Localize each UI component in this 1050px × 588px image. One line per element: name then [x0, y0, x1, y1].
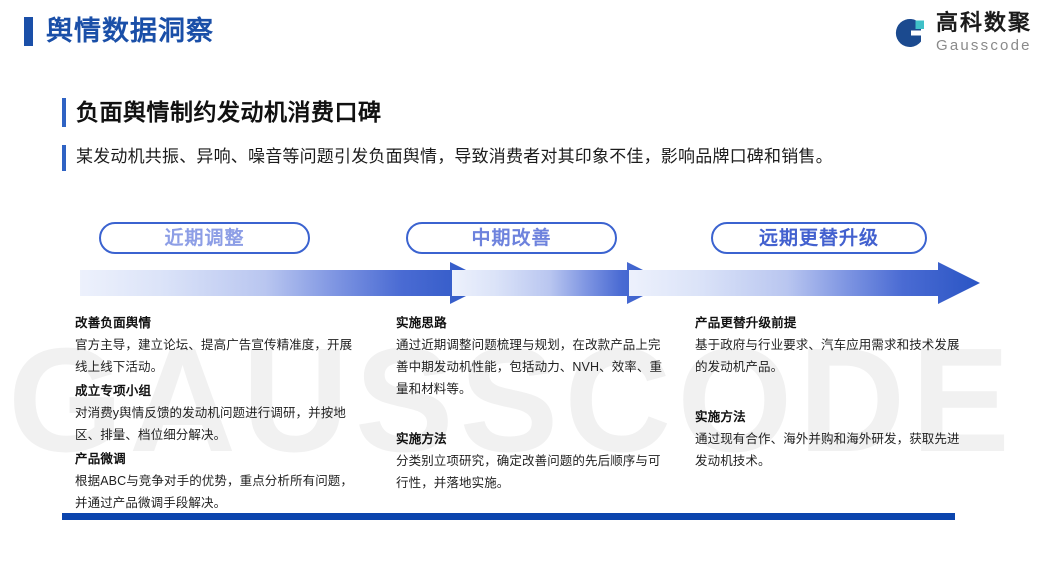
footer-rule	[62, 513, 955, 520]
detail-section-body: 官方主导，建立论坛、提高广告宣传精准度，开展线上线下活动。	[75, 334, 360, 378]
phase-column-long-term: 产品更替升级前提 基于政府与行业要求、汽车应用需求和技术发展的发动机产品。 实施…	[695, 312, 967, 474]
detail-section: 成立专项小组 对消费y舆情反馈的发动机问题进行调研，并按地区、排量、档位细分解决…	[75, 380, 360, 446]
logo-name-cn: 高科数聚	[936, 12, 1032, 34]
detail-section: 实施方法 分类别立项研究，确定改善问题的先后顺序与可行性，并落地实施。	[396, 428, 666, 494]
detail-section: 实施思路 通过近期调整问题梳理与规划，在改款产品上完善中期发动机性能，包括动力、…	[396, 312, 666, 400]
subheadline-accent-bar	[62, 145, 66, 171]
detail-section: 产品微调 根据ABC与竞争对手的优势，重点分析所有问题，并通过产品微调手段解决。	[75, 448, 360, 514]
headline-block: 负面舆情制约发动机消费口碑 某发动机共振、异响、噪音等问题引发负面舆情，导致消费…	[62, 96, 962, 170]
phase-pill-near-term[interactable]: 近期调整	[99, 222, 310, 254]
detail-section-title: 产品微调	[75, 448, 360, 470]
detail-section-body: 通过近期调整问题梳理与规划，在改款产品上完善中期发动机性能，包括动力、NVH、效…	[396, 334, 666, 400]
phase-column-near-term: 改善负面舆情 官方主导，建立论坛、提高广告宣传精准度，开展线上线下活动。 成立专…	[75, 312, 360, 516]
slide-header: 舆情数据洞察 高科数聚 Gausscode	[0, 0, 1050, 72]
detail-section: 改善负面舆情 官方主导，建立论坛、提高广告宣传精准度，开展线上线下活动。	[75, 312, 360, 378]
header-title-group: 舆情数据洞察	[24, 17, 214, 46]
brand-logo: 高科数聚 Gausscode	[891, 12, 1032, 53]
detail-section-body: 根据ABC与竞争对手的优势，重点分析所有问题，并通过产品微调手段解决。	[75, 470, 360, 514]
logo-name-en: Gausscode	[936, 38, 1032, 53]
phase-column-mid-term: 实施思路 通过近期调整问题梳理与规划，在改款产品上完善中期发动机性能，包括动力、…	[396, 312, 666, 496]
detail-section: 实施方法 通过现有合作、海外并购和海外研发，获取先进发动机技术。	[695, 406, 967, 472]
phase-pill-label: 远期更替升级	[759, 229, 879, 248]
detail-section-body: 分类别立项研究，确定改善问题的先后顺序与可行性，并落地实施。	[396, 450, 666, 494]
subheadline-row: 某发动机共振、异响、噪音等问题引发负面舆情，导致消费者对其印象不佳，影响品牌口碑…	[62, 144, 962, 170]
detail-section-title: 实施方法	[695, 406, 967, 428]
slide-canvas: GAUSSCODE 舆情数据洞察 高科数聚 Gausscode 负面舆情制约发动…	[0, 0, 1050, 588]
phase-pill-label: 中期改善	[471, 229, 551, 248]
detail-section: 产品更替升级前提 基于政府与行业要求、汽车应用需求和技术发展的发动机产品。	[695, 312, 967, 378]
subheadline-text: 某发动机共振、异响、噪音等问题引发负面舆情，导致消费者对其印象不佳，影响品牌口碑…	[76, 144, 962, 170]
gausscode-logo-icon	[891, 15, 927, 51]
headline-accent-bar	[62, 98, 66, 127]
phase-detail-columns: 改善负面舆情 官方主导，建立论坛、提高广告宣传精准度，开展线上线下活动。 成立专…	[0, 312, 1050, 502]
timeline-arrow	[80, 262, 980, 304]
page-title: 舆情数据洞察	[46, 18, 214, 45]
detail-section-title: 实施思路	[396, 312, 666, 334]
detail-section-body: 基于政府与行业要求、汽车应用需求和技术发展的发动机产品。	[695, 334, 967, 378]
headline-row: 负面舆情制约发动机消费口碑	[62, 96, 962, 128]
phase-pill-long-term[interactable]: 远期更替升级	[711, 222, 927, 254]
phase-pill-label: 近期调整	[164, 229, 244, 248]
logo-wordmark: 高科数聚 Gausscode	[936, 12, 1032, 53]
phase-pill-mid-term[interactable]: 中期改善	[406, 222, 617, 254]
detail-section-title: 实施方法	[396, 428, 666, 450]
headline-text: 负面舆情制约发动机消费口碑	[76, 96, 962, 128]
square-bullet-icon	[24, 17, 33, 46]
detail-section-title: 成立专项小组	[75, 380, 360, 402]
detail-section-body: 通过现有合作、海外并购和海外研发，获取先进发动机技术。	[695, 428, 967, 472]
detail-section-title: 产品更替升级前提	[695, 312, 967, 334]
detail-section-body: 对消费y舆情反馈的发动机问题进行调研，并按地区、排量、档位细分解决。	[75, 402, 360, 446]
detail-section-title: 改善负面舆情	[75, 312, 360, 334]
